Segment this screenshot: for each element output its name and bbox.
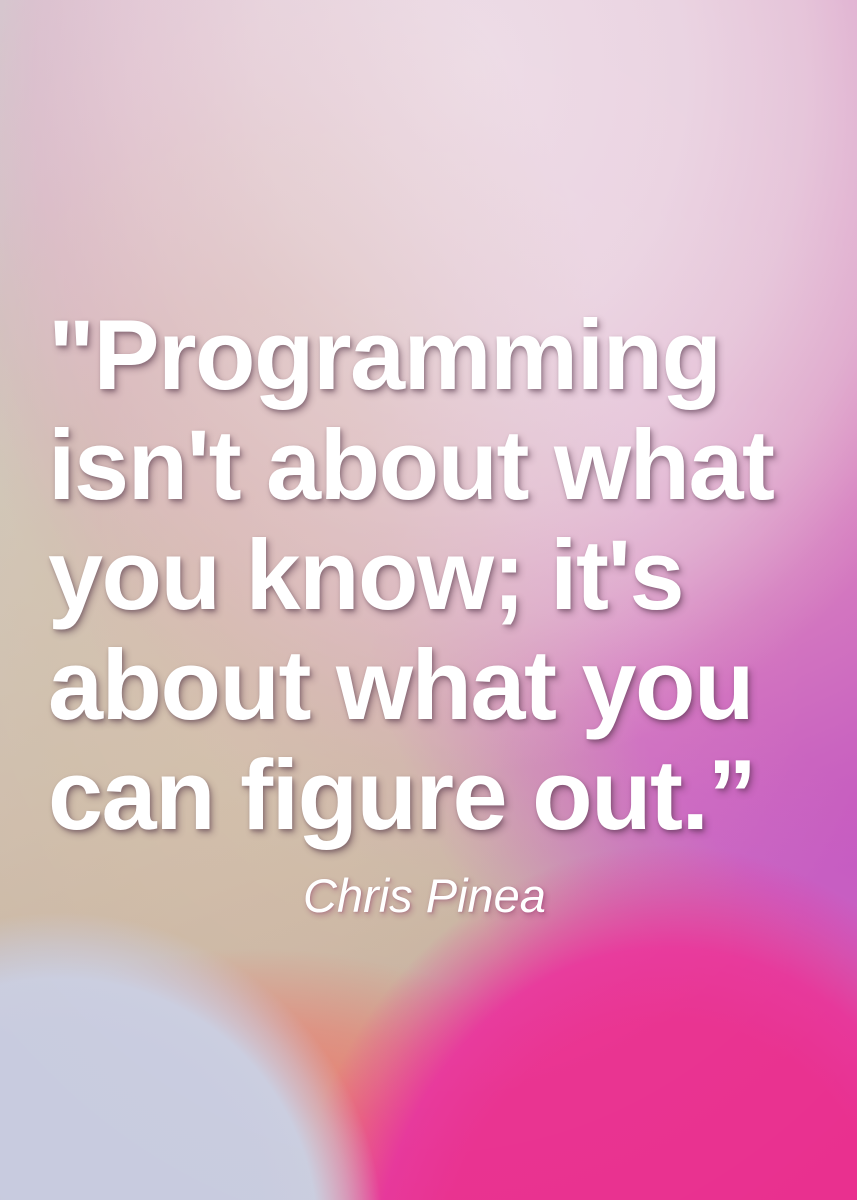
quote-line-4: about what you [48,630,838,740]
quote-text-block: "Programming isn't about what you know; … [48,300,838,850]
quote-line-5: can figure out.” [48,740,838,850]
quote-poster: "Programming isn't about what you know; … [0,0,857,1200]
quote-line-2: isn't about what [48,410,838,520]
poster-content: "Programming isn't about what you know; … [0,0,857,1200]
quote-line-3: you know; it's [48,520,838,630]
quote-line-1: "Programming [48,300,838,410]
quote-attribution: Chris Pinea [303,869,546,923]
